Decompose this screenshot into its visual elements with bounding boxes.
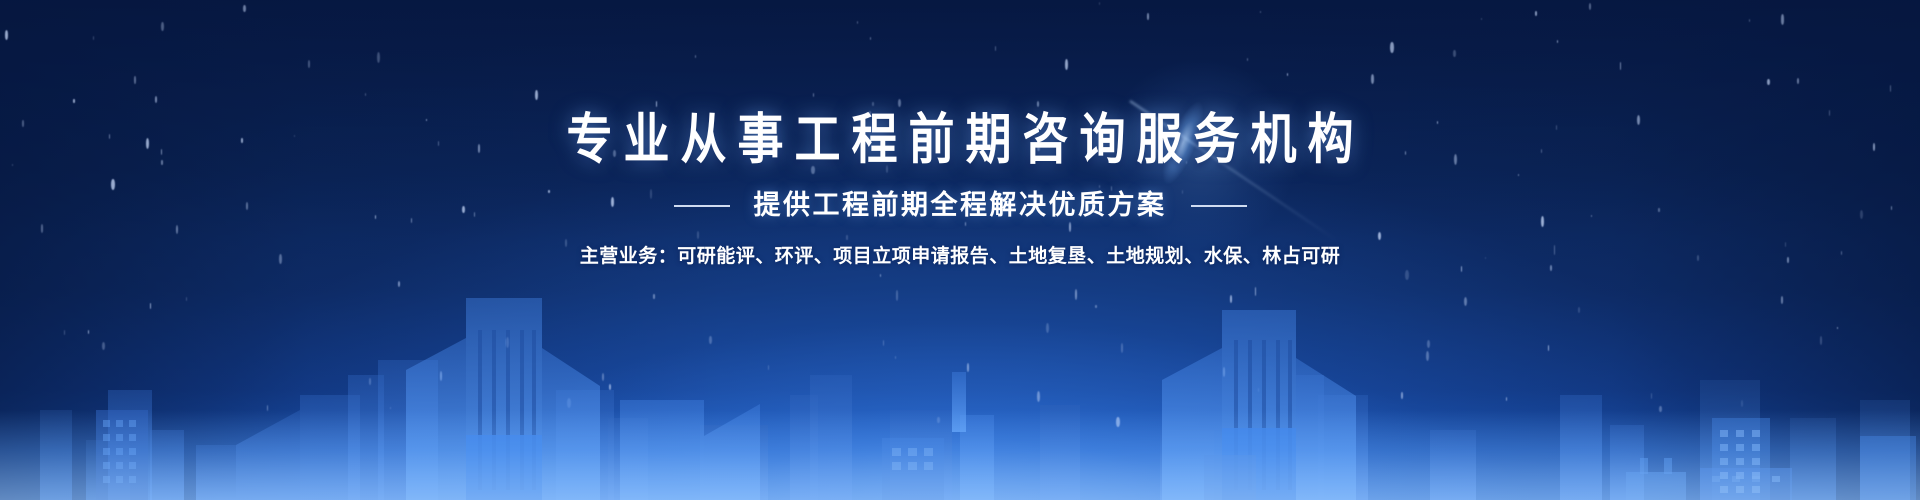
dash-left-icon <box>674 205 730 207</box>
light-beam-icon <box>1129 100 1337 241</box>
lens-flare-halo-icon <box>1100 60 1300 250</box>
dash-right-icon <box>1191 205 1247 207</box>
banner-headline: 专业从事工程前期咨询服务机构 <box>556 112 1365 166</box>
city-skyline <box>0 240 1920 500</box>
horizon-arc-line <box>0 370 1920 500</box>
banner-content: 专业从事工程前期咨询服务机构 提供工程前期全程解决优质方案 主营业务：可研能评、… <box>0 0 1920 500</box>
banner-business-line: 主营业务：可研能评、环评、项目立项申请报告、土地复垦、土地规划、水保、林占可研 <box>580 247 1341 266</box>
horizon-glow <box>0 340 1920 500</box>
ground-glow <box>0 410 1920 500</box>
banner-subtitle-row: 提供工程前期全程解决优质方案 <box>674 192 1247 219</box>
particle-field <box>0 0 1920 500</box>
side-vignette <box>0 0 1920 500</box>
banner-subtitle: 提供工程前期全程解决优质方案 <box>754 192 1167 219</box>
lens-flare-icon <box>1098 58 1267 227</box>
hero-banner: 专业从事工程前期咨询服务机构 提供工程前期全程解决优质方案 主营业务：可研能评、… <box>0 0 1920 500</box>
sky-top-shade <box>0 0 1920 240</box>
